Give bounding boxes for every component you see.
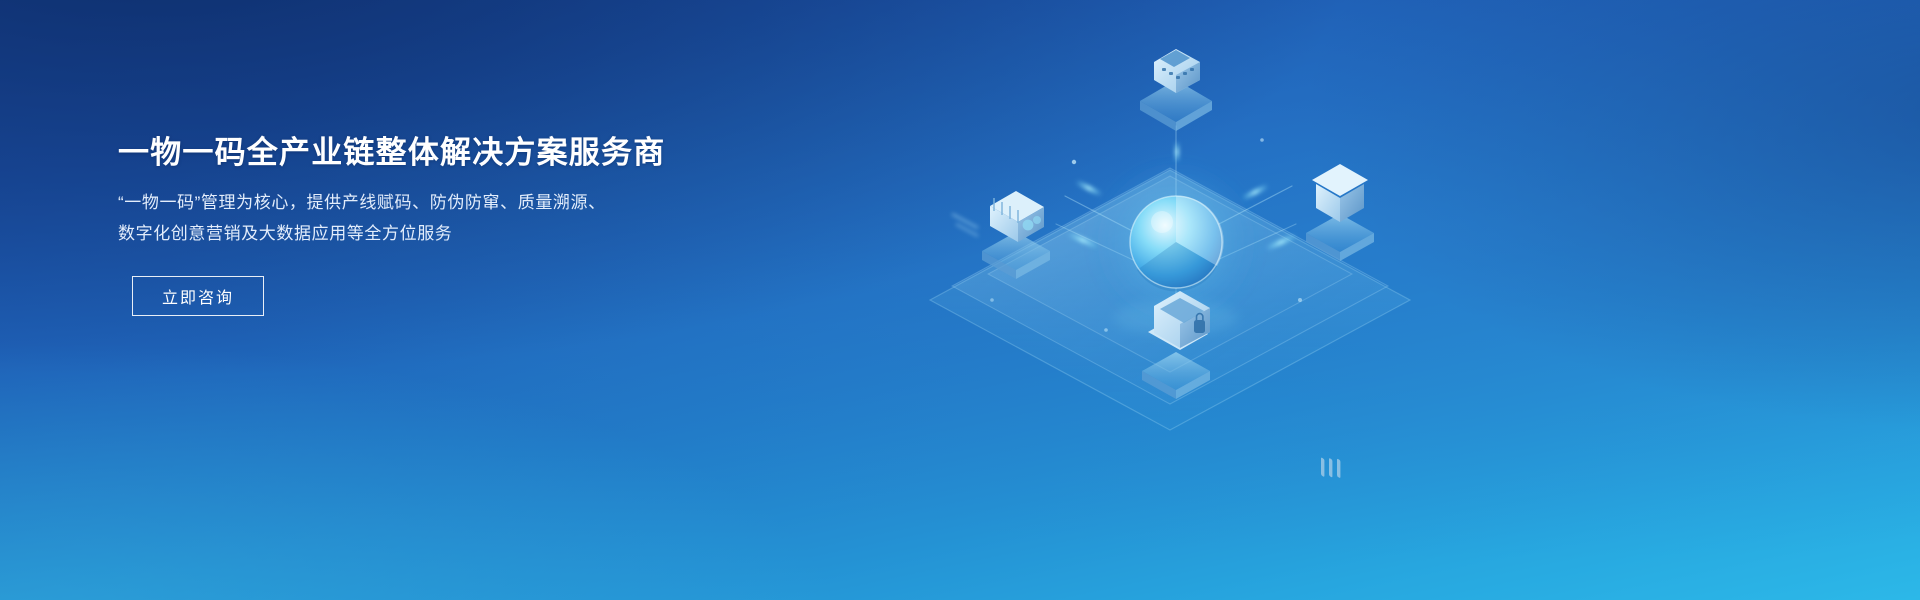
hero-illustration [860, 0, 1500, 600]
hero-copy: 一物一码全产业链整体解决方案服务商 “一物一码”管理为核心，提供产线赋码、防伪防… [118, 134, 818, 316]
page-title: 一物一码全产业链整体解决方案服务商 [118, 134, 818, 173]
bank-building-icon [1306, 0, 1374, 478]
pos-terminal-icon [1140, 49, 1212, 131]
hero-banner: 一物一码全产业链整体解决方案服务商 “一物一码”管理为核心，提供产线赋码、防伪防… [0, 0, 1920, 600]
server-rack-icon [952, 191, 1050, 279]
consult-now-button[interactable]: 立即咨询 [132, 276, 264, 316]
hero-subtitle-line-1: “一物一码”管理为核心，提供产线赋码、防伪防窜、质量溯源、 [118, 187, 818, 218]
hero-subtitle-line-2: 数字化创意营销及大数据应用等全方位服务 [118, 218, 818, 249]
hero-subtitle: “一物一码”管理为核心，提供产线赋码、防伪防窜、质量溯源、 数字化创意营销及大数… [118, 187, 818, 250]
